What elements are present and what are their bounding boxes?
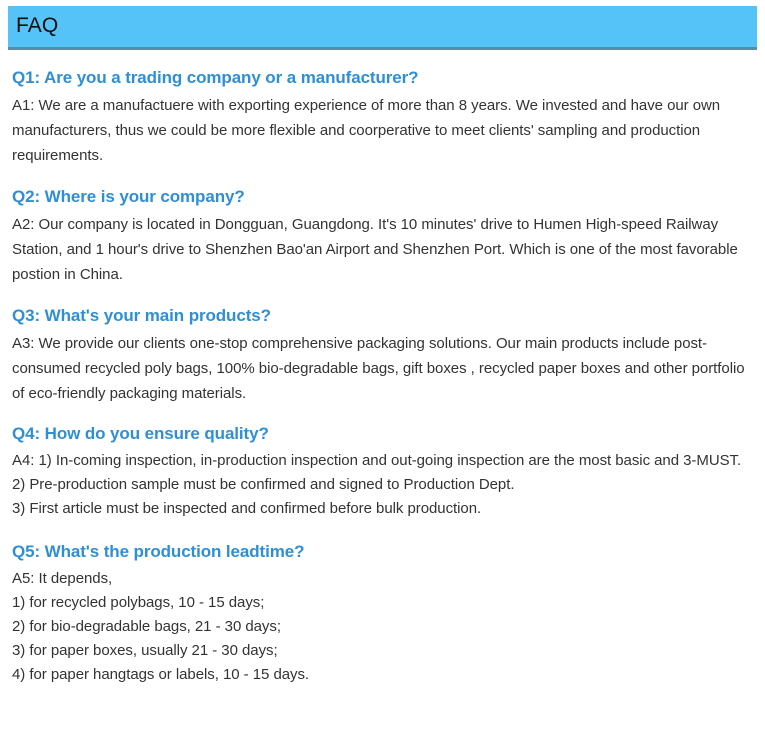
faq-answer-line: A4: 1) In-coming inspection, in-producti… bbox=[12, 449, 752, 473]
faq-item-2: Q2: Where is your company? A2: Our compa… bbox=[12, 185, 752, 287]
faq-answer-line: 2) Pre-production sample must be confirm… bbox=[12, 473, 752, 497]
faq-header-banner: FAQ bbox=[8, 6, 757, 50]
faq-answer-line: A5: It depends, bbox=[12, 567, 752, 591]
faq-answer-line: 2) for bio-degradable bags, 21 - 30 days… bbox=[12, 615, 752, 639]
faq-answer-line: 3) for paper boxes, usually 21 - 30 days… bbox=[12, 639, 752, 663]
faq-item-5: Q5: What's the production leadtime? A5: … bbox=[12, 540, 752, 687]
faq-answer-1: A1: We are a manufactuere with exporting… bbox=[12, 93, 752, 168]
faq-question-3: Q3: What's your main products? bbox=[12, 304, 752, 328]
faq-answer-2: A2: Our company is located in Dongguan, … bbox=[12, 212, 752, 287]
faq-question-2: Q2: Where is your company? bbox=[12, 185, 752, 209]
page-title: FAQ bbox=[16, 13, 58, 39]
faq-answer-line: 4) for paper hangtags or labels, 10 - 15… bbox=[12, 663, 752, 687]
faq-answer-line: 1) for recycled polybags, 10 - 15 days; bbox=[12, 591, 752, 615]
faq-answer-3: A3: We provide our clients one-stop comp… bbox=[12, 331, 752, 406]
faq-answer-5: A5: It depends, 1) for recycled polybags… bbox=[12, 567, 752, 687]
faq-item-4: Q4: How do you ensure quality? A4: 1) In… bbox=[12, 422, 752, 521]
faq-question-4: Q4: How do you ensure quality? bbox=[12, 422, 752, 446]
faq-question-1: Q1: Are you a trading company or a manuf… bbox=[12, 66, 752, 90]
faq-page: FAQ Q1: Are you a trading company or a m… bbox=[0, 0, 765, 748]
faq-question-5: Q5: What's the production leadtime? bbox=[12, 540, 752, 564]
faq-item-3: Q3: What's your main products? A3: We pr… bbox=[12, 304, 752, 406]
faq-item-1: Q1: Are you a trading company or a manuf… bbox=[12, 66, 752, 168]
faq-answer-line: 3) First article must be inspected and c… bbox=[12, 497, 752, 521]
faq-list: Q1: Are you a trading company or a manuf… bbox=[12, 66, 752, 687]
faq-answer-4: A4: 1) In-coming inspection, in-producti… bbox=[12, 449, 752, 521]
